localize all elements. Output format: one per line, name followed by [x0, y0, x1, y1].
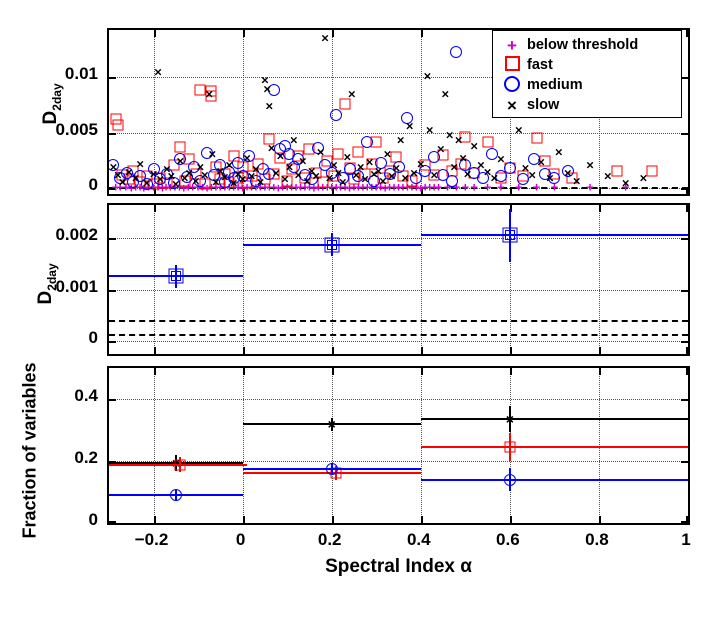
marker-square: [384, 165, 395, 176]
marker-circle: [495, 170, 507, 182]
y-tick-label: 0.4: [0, 386, 98, 406]
marker-square: [495, 173, 506, 184]
marker-circle: [437, 169, 449, 181]
gridline-vertical: [154, 368, 155, 523]
marker-circle: [292, 153, 304, 165]
marker-cross: ×: [573, 174, 581, 187]
x-tick-mark: [421, 368, 423, 375]
marker-circle: [274, 143, 286, 155]
marker-circle: [214, 159, 226, 171]
x-tick-mark: [332, 347, 334, 354]
x-tick-mark: [510, 347, 512, 354]
panel-top-ylabel-sub: 2day: [50, 83, 64, 110]
marker-circle: [228, 172, 240, 184]
marker-square: [446, 165, 457, 176]
x-axis-label: Spectral Index α: [107, 556, 690, 578]
legend-item: medium: [497, 75, 583, 95]
marker-cross: ×: [234, 167, 242, 180]
marker-circle: [223, 166, 235, 178]
marker-square: [246, 171, 257, 182]
marker-square: [340, 98, 351, 109]
marker-square: [438, 149, 449, 160]
marker-cross: ×: [163, 163, 171, 176]
marker-square: [549, 168, 560, 179]
marker-circle: [468, 167, 480, 179]
marker-square: [128, 165, 139, 176]
y-tick-label: 0: [0, 328, 98, 348]
marker-cross: ×: [401, 172, 409, 185]
marker-cross: ×: [192, 174, 200, 187]
marker-square: [268, 168, 279, 179]
marker-cross: ×: [497, 153, 505, 166]
marker-circle: [428, 151, 440, 163]
marker-cross: ×: [114, 169, 122, 182]
reference-line-dashed: [109, 334, 688, 336]
y-tick-label: 0.005: [0, 120, 98, 140]
marker-cross: ×: [136, 157, 144, 170]
legend-item: ×slow: [497, 95, 559, 115]
marker-square: [141, 171, 152, 182]
x-tick-label: 0: [201, 530, 281, 550]
marker-cross: ×: [357, 161, 365, 174]
x-tick-mark: [599, 205, 601, 212]
marker-square: [205, 86, 216, 97]
marker-circle: [548, 172, 560, 184]
marker-cross: ×: [248, 170, 256, 183]
y-tick-mark: [681, 77, 688, 79]
gridline-vertical: [332, 368, 333, 523]
marker-cross: ×: [446, 128, 454, 141]
marker-circle: [539, 168, 551, 180]
marker-cross: ×: [437, 143, 445, 156]
marker-square: [567, 173, 578, 184]
marker-cross: ×: [243, 152, 251, 165]
error-bar-horizontal: [421, 234, 688, 236]
marker-cross: ×: [132, 172, 140, 185]
x-tick-label: 0.2: [290, 530, 370, 550]
x-tick-mark: [686, 368, 688, 375]
x-tick-mark: [686, 205, 688, 212]
reference-line-dashed: [109, 187, 688, 189]
marker-cross: ×: [441, 87, 449, 100]
marker-circle: [134, 170, 146, 182]
x-tick-mark: [243, 368, 245, 375]
marker-square: [293, 151, 304, 162]
marker-cross: ×: [522, 162, 530, 175]
gridline-vertical: [243, 368, 244, 523]
marker-cross: ×: [430, 169, 438, 182]
marker-circle: [181, 171, 193, 183]
marker-circle: [401, 112, 413, 124]
marker-circle: [161, 168, 173, 180]
legend: +below thresholdfastmedium×slow: [492, 30, 682, 118]
marker-circle: [352, 170, 364, 182]
marker-square: [195, 85, 206, 96]
y-tick-mark: [109, 77, 116, 79]
marker-circle: [446, 175, 458, 187]
x-tick-mark: [599, 347, 601, 354]
marker-circle: [384, 168, 396, 180]
marker-square: [168, 159, 179, 170]
marker-circle: [121, 167, 133, 179]
y-tick-mark: [681, 133, 688, 135]
marker-cross: ×: [546, 172, 554, 185]
marker-cross: ×: [299, 154, 307, 167]
marker-circle: [375, 157, 387, 169]
error-bar-horizontal: [109, 464, 247, 466]
marker-cross: ×: [110, 161, 118, 174]
error-bar-vertical: [509, 468, 511, 492]
marker-square: [518, 171, 529, 182]
marker-cross: ×: [406, 119, 414, 132]
marker-cross: ×: [470, 140, 478, 153]
marker-square: [112, 119, 123, 130]
marker-circle: [337, 172, 349, 184]
marker-square: [482, 136, 493, 147]
marker-cross: ×: [375, 164, 383, 177]
y-tick-mark: [109, 341, 116, 343]
y-tick-label: 0.01: [0, 64, 98, 84]
legend-label: slow: [527, 97, 559, 113]
marker-square: [219, 168, 230, 179]
x-tick-mark: [686, 30, 688, 37]
marker-cross: ×: [197, 161, 205, 174]
marker-square: [175, 142, 186, 153]
marker-square: [155, 173, 166, 184]
marker-circle: [283, 148, 295, 160]
marker-cross: ×: [168, 170, 176, 183]
marker-square: [353, 146, 364, 157]
legend-item: +below threshold: [497, 35, 638, 55]
marker-cross: ×: [335, 166, 343, 179]
marker-circle: [319, 159, 331, 171]
marker-cross: ×: [266, 99, 274, 112]
marker-square: [377, 173, 388, 184]
marker-square: [210, 162, 221, 173]
error-bar-vertical: [331, 233, 333, 256]
marker-square: [264, 134, 275, 145]
marker-circle: [368, 175, 380, 187]
gridline-vertical: [243, 205, 244, 354]
gridline-vertical: [154, 30, 155, 194]
marker-circle: [114, 172, 126, 184]
marker-cross: ×: [361, 173, 369, 186]
gridline-vertical: [243, 30, 244, 194]
figure-canvas: D2day D2day Fraction of variables Spectr…: [0, 0, 708, 620]
marker-square: [224, 176, 235, 187]
gridline-horizontal: [109, 399, 688, 400]
x-tick-mark: [243, 347, 245, 354]
marker-cross: ×: [290, 134, 298, 147]
marker-square: [253, 158, 264, 169]
marker-cross: ×: [379, 174, 387, 187]
legend-label: below threshold: [527, 37, 638, 53]
marker-square: [531, 133, 542, 144]
marker-circle: [257, 163, 269, 175]
marker-square: [429, 170, 440, 181]
marker-cross: ×: [352, 169, 360, 182]
marker-square: [328, 171, 339, 182]
gridline-horizontal: [109, 133, 688, 134]
marker-circle: [263, 168, 275, 180]
y-tick-mark: [681, 521, 688, 523]
marker-circle: [279, 140, 291, 152]
marker-square: [360, 168, 371, 179]
marker-cross: ×: [294, 169, 302, 182]
marker-circle: [243, 150, 255, 162]
y-tick-mark: [109, 290, 116, 292]
marker-cross: ×: [201, 169, 209, 182]
marker-circle: [194, 175, 206, 187]
marker-square: [333, 148, 344, 159]
marker-square: [304, 144, 315, 155]
marker-cross: ×: [515, 124, 523, 137]
marker-cross: ×: [604, 170, 612, 183]
marker-cross: ×: [537, 155, 545, 168]
marker-cross: ×: [484, 165, 492, 178]
x-tick-mark: [332, 205, 334, 212]
marker-cross: ×: [125, 165, 133, 178]
marker-square: [391, 152, 402, 163]
marker-cross: ×: [205, 87, 213, 100]
marker-square: [406, 175, 417, 186]
marker-square: [282, 175, 293, 186]
marker-cross: ×: [263, 83, 271, 96]
marker-circle: [201, 147, 213, 159]
y-tick-mark: [681, 341, 688, 343]
marker-cross: ×: [286, 161, 294, 174]
error-bar-vertical: [509, 433, 511, 462]
marker-cross: ×: [221, 171, 229, 184]
marker-cross: ×: [528, 169, 536, 182]
marker-square: [348, 174, 359, 185]
marker-square: [184, 154, 195, 165]
error-bar-horizontal: [421, 446, 688, 448]
error-bar-vertical: [331, 463, 333, 474]
error-bar-vertical: [175, 490, 177, 501]
marker-cross: ×: [308, 164, 316, 177]
marker-square: [179, 175, 190, 186]
marker-cross: ×: [392, 162, 400, 175]
marker-circle: [517, 173, 529, 185]
gridline-vertical: [332, 205, 333, 354]
gridline-vertical: [154, 205, 155, 354]
marker-cross: ×: [321, 31, 329, 44]
legend-plus-icon: +: [497, 37, 527, 54]
marker-square: [124, 174, 135, 185]
y-tick-mark: [681, 461, 688, 463]
y-tick-label: 0.001: [0, 277, 98, 297]
legend-cross-icon: ×: [497, 97, 527, 114]
x-tick-mark: [243, 205, 245, 212]
marker-square: [371, 136, 382, 147]
marker-cross: ×: [176, 154, 184, 167]
marker-cross: ×: [388, 170, 396, 183]
marker-cross: ×: [455, 134, 463, 147]
marker-cross: ×: [477, 158, 485, 171]
marker-square: [117, 170, 128, 181]
marker-square: [299, 173, 310, 184]
marker-cross: ×: [384, 147, 392, 160]
marker-circle: [174, 153, 186, 165]
marker-cross: ×: [217, 164, 225, 177]
legend-label: fast: [527, 57, 553, 73]
marker-circle: [208, 169, 220, 181]
gridline-horizontal: [109, 290, 688, 291]
error-bar-horizontal: [421, 418, 688, 420]
x-tick-mark: [332, 30, 334, 37]
marker-cross: ×: [272, 166, 280, 179]
error-bar-vertical: [179, 457, 181, 472]
x-tick-mark: [154, 205, 156, 212]
marker-square: [469, 167, 480, 178]
marker-circle: [393, 161, 405, 173]
marker-circle: [486, 148, 498, 160]
x-tick-mark: [243, 516, 245, 523]
marker-cross: ×: [564, 166, 572, 179]
marker-cross: ×: [252, 163, 260, 176]
marker-square: [286, 164, 297, 175]
panel-top-ylabel: D2day: [40, 44, 64, 164]
y-tick-label: 0: [0, 175, 98, 195]
x-tick-mark: [599, 516, 601, 523]
x-tick-mark: [332, 368, 334, 375]
gridline-horizontal: [109, 238, 688, 239]
marker-cross: ×: [317, 145, 325, 158]
marker-circle: [562, 165, 574, 177]
marker-circle: [306, 173, 318, 185]
marker-square: [344, 163, 355, 174]
x-tick-mark: [686, 347, 688, 354]
marker-cross: ×: [370, 167, 378, 180]
x-tick-mark: [510, 368, 512, 375]
marker-circle: [450, 46, 462, 58]
marker-cross: ×: [490, 172, 498, 185]
x-tick-label: 1: [646, 530, 708, 550]
x-tick-mark: [421, 347, 423, 354]
marker-circle: [250, 175, 262, 187]
marker-square: [317, 176, 328, 187]
x-tick-mark: [599, 368, 601, 375]
marker-cross: ×: [555, 145, 563, 158]
marker-cross: ×: [281, 173, 289, 186]
marker-square: [366, 158, 377, 169]
marker-cross: ×: [312, 170, 320, 183]
marker-circle: [268, 84, 280, 96]
marker-cross: ×: [225, 158, 233, 171]
marker-cross: ×: [464, 167, 472, 180]
marker-square: [110, 114, 121, 125]
marker-circle: [154, 173, 166, 185]
x-tick-mark: [421, 205, 423, 212]
marker-cross: ×: [640, 172, 648, 185]
x-tick-label: 0.6: [468, 530, 548, 550]
marker-square: [647, 165, 658, 176]
x-tick-mark: [332, 516, 334, 523]
reference-line-dashdot: [109, 320, 688, 322]
gridline-vertical: [599, 205, 600, 354]
marker-cross: ×: [343, 151, 351, 164]
x-tick-mark: [243, 30, 245, 37]
marker-square: [259, 174, 270, 185]
marker-circle: [299, 169, 311, 181]
panel-bottom-binned: ×××: [107, 366, 690, 525]
marker-circle: [528, 153, 540, 165]
y-tick-mark: [681, 399, 688, 401]
y-tick-mark: [109, 399, 116, 401]
legend-square-icon: [497, 56, 527, 74]
x-tick-label: −0.2: [112, 530, 192, 550]
y-tick-mark: [109, 133, 116, 135]
marker-circle: [477, 172, 489, 184]
legend-circle-icon: [497, 76, 527, 95]
gridline-horizontal: [109, 341, 688, 342]
y-tick-mark: [109, 238, 116, 240]
x-tick-mark: [421, 30, 423, 37]
marker-square: [311, 167, 322, 178]
marker-square: [397, 171, 408, 182]
marker-cross: ×: [268, 142, 276, 155]
marker-circle: [288, 161, 300, 173]
error-bar-horizontal: [421, 479, 688, 481]
y-tick-mark: [109, 521, 116, 523]
x-tick-mark: [154, 368, 156, 375]
marker-square: [135, 176, 146, 187]
gridline-vertical: [421, 205, 422, 354]
y-tick-label: 0: [0, 510, 98, 530]
y-tick-mark: [681, 290, 688, 292]
marker-cross: ×: [209, 147, 217, 160]
marker-cross: ×: [366, 155, 374, 168]
marker-square: [275, 153, 286, 164]
marker-cross: ×: [277, 150, 285, 163]
marker-circle: [188, 161, 200, 173]
y-tick-mark: [681, 238, 688, 240]
marker-circle: [361, 136, 373, 148]
marker-circle: [107, 159, 119, 171]
legend-item: fast: [497, 55, 553, 75]
marker-cross: ×: [348, 87, 356, 100]
marker-cross: ×: [181, 172, 189, 185]
marker-square: [206, 90, 217, 101]
error-bar-vertical: [509, 406, 511, 432]
marker-cross: ×: [156, 173, 164, 186]
marker-cross: ×: [450, 161, 458, 174]
marker-cross: ×: [410, 166, 418, 179]
marker-cross: ×: [185, 166, 193, 179]
marker-circle: [459, 159, 471, 171]
marker-square: [228, 151, 239, 162]
panel-middle-binned: [107, 203, 690, 356]
gridline-vertical: [421, 30, 422, 194]
x-tick-mark: [154, 30, 156, 37]
x-tick-mark: [510, 516, 512, 523]
marker-cross: ×: [303, 174, 311, 187]
marker-square: [190, 168, 201, 179]
marker-cross: ×: [459, 152, 467, 165]
x-tick-label: 0.4: [379, 530, 459, 550]
legend-label: medium: [527, 77, 583, 93]
x-tick-mark: [421, 516, 423, 523]
marker-cross: ×: [426, 124, 434, 137]
marker-cross: ×: [261, 74, 269, 87]
y-tick-label: 0.002: [0, 225, 98, 245]
marker-circle: [344, 163, 356, 175]
marker-cross: ×: [397, 134, 405, 147]
marker-circle: [312, 142, 324, 154]
gridline-vertical: [332, 30, 333, 194]
marker-square: [611, 165, 622, 176]
